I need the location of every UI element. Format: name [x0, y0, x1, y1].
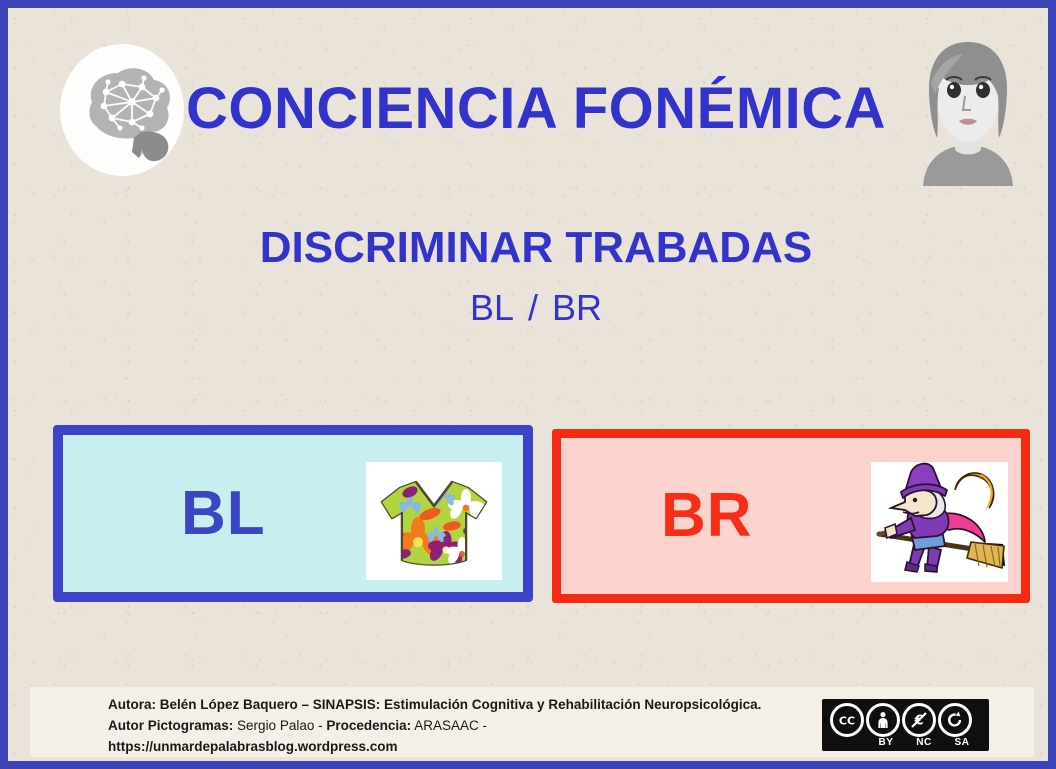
phoneme-pair-right: BR	[552, 287, 602, 328]
cc-term-blank	[830, 737, 866, 748]
phoneme-pair: BL/BR	[8, 288, 1056, 328]
card-label-br: BR	[661, 485, 753, 547]
credits-dash-2: -	[483, 718, 488, 733]
credits-dash-1: -	[318, 718, 323, 733]
cc-term-sa: SA	[944, 737, 980, 748]
cc-terms: BY NC SA	[830, 737, 980, 748]
credits-block: Autora: Belén López Baquero – SINAPSIS: …	[108, 694, 798, 757]
svg-text:CC: CC	[839, 715, 855, 728]
page-title: CONCIENCIA FONÉMICA	[8, 80, 1056, 138]
source-value: ARASAAC	[414, 718, 479, 733]
cc-by-person-icon	[866, 703, 900, 737]
pictogram-author-label: Autor Pictogramas:	[108, 718, 233, 733]
source-label: Procedencia:	[326, 718, 411, 733]
cc-nc-noncommercial-icon: €	[902, 703, 936, 737]
cc-term-by: BY	[868, 737, 904, 748]
activity-subtitle: DISCRIMINAR TRABADAS	[8, 226, 1056, 270]
credits-line-3: https://unmardepalabrasblog.wordpress.co…	[108, 736, 798, 757]
answer-card-bl[interactable]: BL	[53, 425, 533, 602]
cc-term-nc: NC	[906, 737, 942, 748]
blog-url[interactable]: https://unmardepalabrasblog.wordpress.co…	[108, 739, 398, 754]
pictogram-author-value: Sergio Palao	[237, 718, 314, 733]
credits-line-1: Autora: Belén López Baquero – SINAPSIS: …	[108, 694, 798, 715]
credits-line-2: Autor Pictogramas: Sergio Palao - Proced…	[108, 715, 798, 736]
card-label-bl: BL	[181, 483, 266, 545]
blouse-pictogram	[366, 462, 502, 580]
phoneme-pair-left: BL	[470, 287, 514, 328]
creative-commons-badge[interactable]: CC €	[822, 699, 989, 751]
slide-canvas: CONCIENCIA FONÉMICA DISCRIMINAR TRABADAS…	[0, 0, 1056, 769]
phoneme-pair-separator: /	[514, 287, 552, 328]
credits-author: Autora: Belén López Baquero – SINAPSIS: …	[108, 697, 761, 712]
witch-pictogram	[871, 462, 1008, 582]
cc-sa-sharealike-icon	[938, 703, 972, 737]
cc-icon: CC	[830, 703, 864, 737]
answer-card-br[interactable]: BR	[552, 429, 1030, 603]
